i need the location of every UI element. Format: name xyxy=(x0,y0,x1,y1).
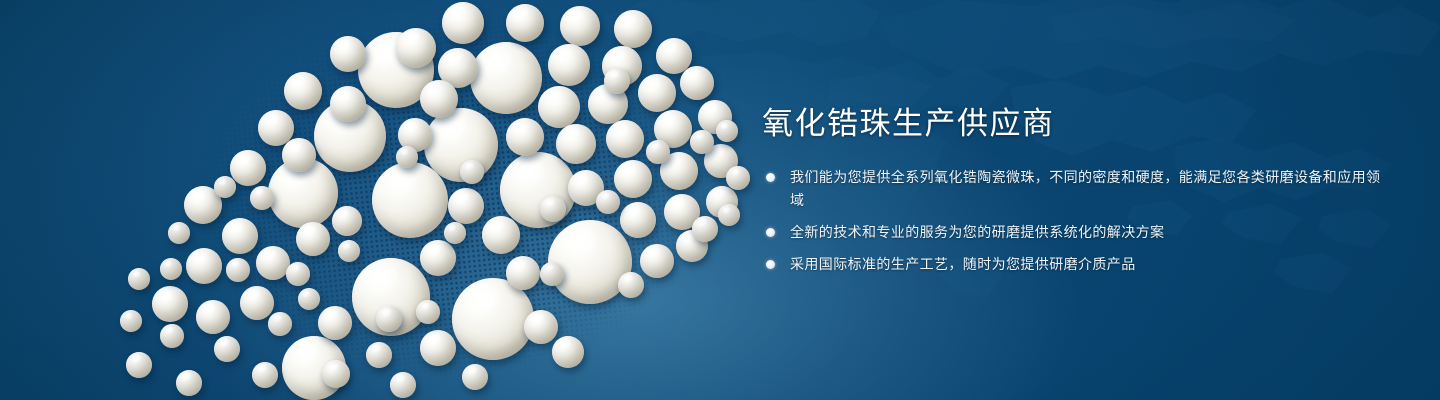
bead-small xyxy=(226,258,250,282)
bead-small xyxy=(716,120,738,142)
bead-medium xyxy=(614,10,652,48)
bead-small xyxy=(444,222,466,244)
bead-small xyxy=(618,272,644,298)
bead-small xyxy=(128,268,150,290)
bead-medium xyxy=(606,120,644,158)
bead-medium xyxy=(552,336,584,368)
bead-medium xyxy=(282,138,316,172)
bead-medium xyxy=(506,4,544,42)
bead-medium xyxy=(538,86,580,128)
bead-medium xyxy=(524,310,558,344)
bead-small xyxy=(298,288,320,310)
bead-large xyxy=(372,162,448,238)
bead-medium xyxy=(186,248,222,284)
bead-medium xyxy=(152,286,188,322)
bead-medium xyxy=(506,118,544,156)
bead-small xyxy=(692,216,718,242)
bead-medium xyxy=(318,306,352,340)
bead-small xyxy=(596,190,620,214)
bead-medium xyxy=(442,2,484,44)
bead-medium xyxy=(420,330,456,366)
bead-small xyxy=(250,186,274,210)
bead-medium xyxy=(420,80,458,118)
bead-medium xyxy=(640,244,674,278)
bead-medium xyxy=(330,86,366,122)
bead-medium xyxy=(680,66,714,100)
bead-small xyxy=(366,342,392,368)
bead-small xyxy=(690,130,714,154)
bead-small xyxy=(126,352,152,378)
bead-medium xyxy=(420,240,456,276)
bullet-dot-icon xyxy=(766,228,775,237)
bead-large xyxy=(452,278,534,360)
bead-small xyxy=(120,310,142,332)
bead-small xyxy=(176,370,202,396)
bead-medium xyxy=(448,188,484,224)
list-item-label: 我们能为您提供全系列氧化锆陶瓷微珠，不同的密度和硬度，能满足您各类研磨设备和应用… xyxy=(790,169,1380,208)
bead-small xyxy=(168,222,190,244)
bead-medium xyxy=(506,256,540,290)
page-title: 氧化锆珠生产供应商 xyxy=(762,104,1382,144)
list-item: 全新的技术和专业的服务为您的研磨提供系统化的解决方案 xyxy=(762,221,1382,244)
bead-medium xyxy=(284,72,322,110)
bead-small xyxy=(252,362,278,388)
bead-medium xyxy=(548,44,590,86)
bead-small xyxy=(646,140,670,164)
bullet-dot-icon xyxy=(766,173,775,182)
bead-medium xyxy=(230,150,266,186)
hero-banner: 氧化锆珠生产供应商 我们能为您提供全系列氧化锆陶瓷微珠，不同的密度和硬度，能满足… xyxy=(0,0,1440,400)
bead-medium xyxy=(620,202,656,238)
bead-medium xyxy=(256,246,290,280)
bead-medium xyxy=(330,36,366,72)
list-item: 采用国际标准的生产工艺，随时为您提供研磨介质产品 xyxy=(762,253,1382,276)
bead-medium xyxy=(196,300,230,334)
bead-medium xyxy=(332,206,362,236)
bead-small xyxy=(286,262,310,286)
list-item: 我们能为您提供全系列氧化锆陶瓷微珠，不同的密度和硬度，能满足您各类研磨设备和应用… xyxy=(762,166,1382,212)
bead-small xyxy=(726,166,750,190)
bead-medium xyxy=(556,124,596,164)
bead-medium xyxy=(240,286,274,320)
bead-small xyxy=(268,312,292,336)
bead-small xyxy=(322,360,350,388)
banner-copy: 氧化锆珠生产供应商 我们能为您提供全系列氧化锆陶瓷微珠，不同的密度和硬度，能满足… xyxy=(762,104,1382,276)
bead-medium xyxy=(396,28,436,68)
bead-small xyxy=(214,336,240,362)
bead-small xyxy=(718,204,740,226)
bead-medium xyxy=(560,6,600,46)
bead-medium xyxy=(222,218,258,254)
bead-small xyxy=(540,196,566,222)
feature-list: 我们能为您提供全系列氧化锆陶瓷微珠，不同的密度和硬度，能满足您各类研磨设备和应用… xyxy=(762,166,1382,276)
bead-medium xyxy=(614,160,652,198)
bead-small xyxy=(338,240,360,262)
bead-small xyxy=(390,372,416,398)
bead-small xyxy=(376,306,402,332)
bead-small xyxy=(460,160,484,184)
list-item-label: 全新的技术和专业的服务为您的研磨提供系统化的解决方案 xyxy=(790,224,1164,240)
bead-small xyxy=(214,176,236,198)
bullet-dot-icon xyxy=(766,260,775,269)
bead-large xyxy=(470,42,542,114)
zirconia-bead-cluster-image xyxy=(0,0,760,400)
bead-medium xyxy=(638,74,676,112)
bead-medium xyxy=(296,222,330,256)
bead-small xyxy=(160,258,182,280)
bead-small xyxy=(396,146,418,168)
bead-small xyxy=(540,262,564,286)
bead-medium xyxy=(482,216,520,254)
bead-small xyxy=(462,364,488,390)
list-item-label: 采用国际标准的生产工艺，随时为您提供研磨介质产品 xyxy=(790,256,1136,272)
bead-large xyxy=(500,152,576,228)
bead-small xyxy=(160,324,184,348)
bead-small xyxy=(416,300,440,324)
bead-small xyxy=(604,68,630,94)
